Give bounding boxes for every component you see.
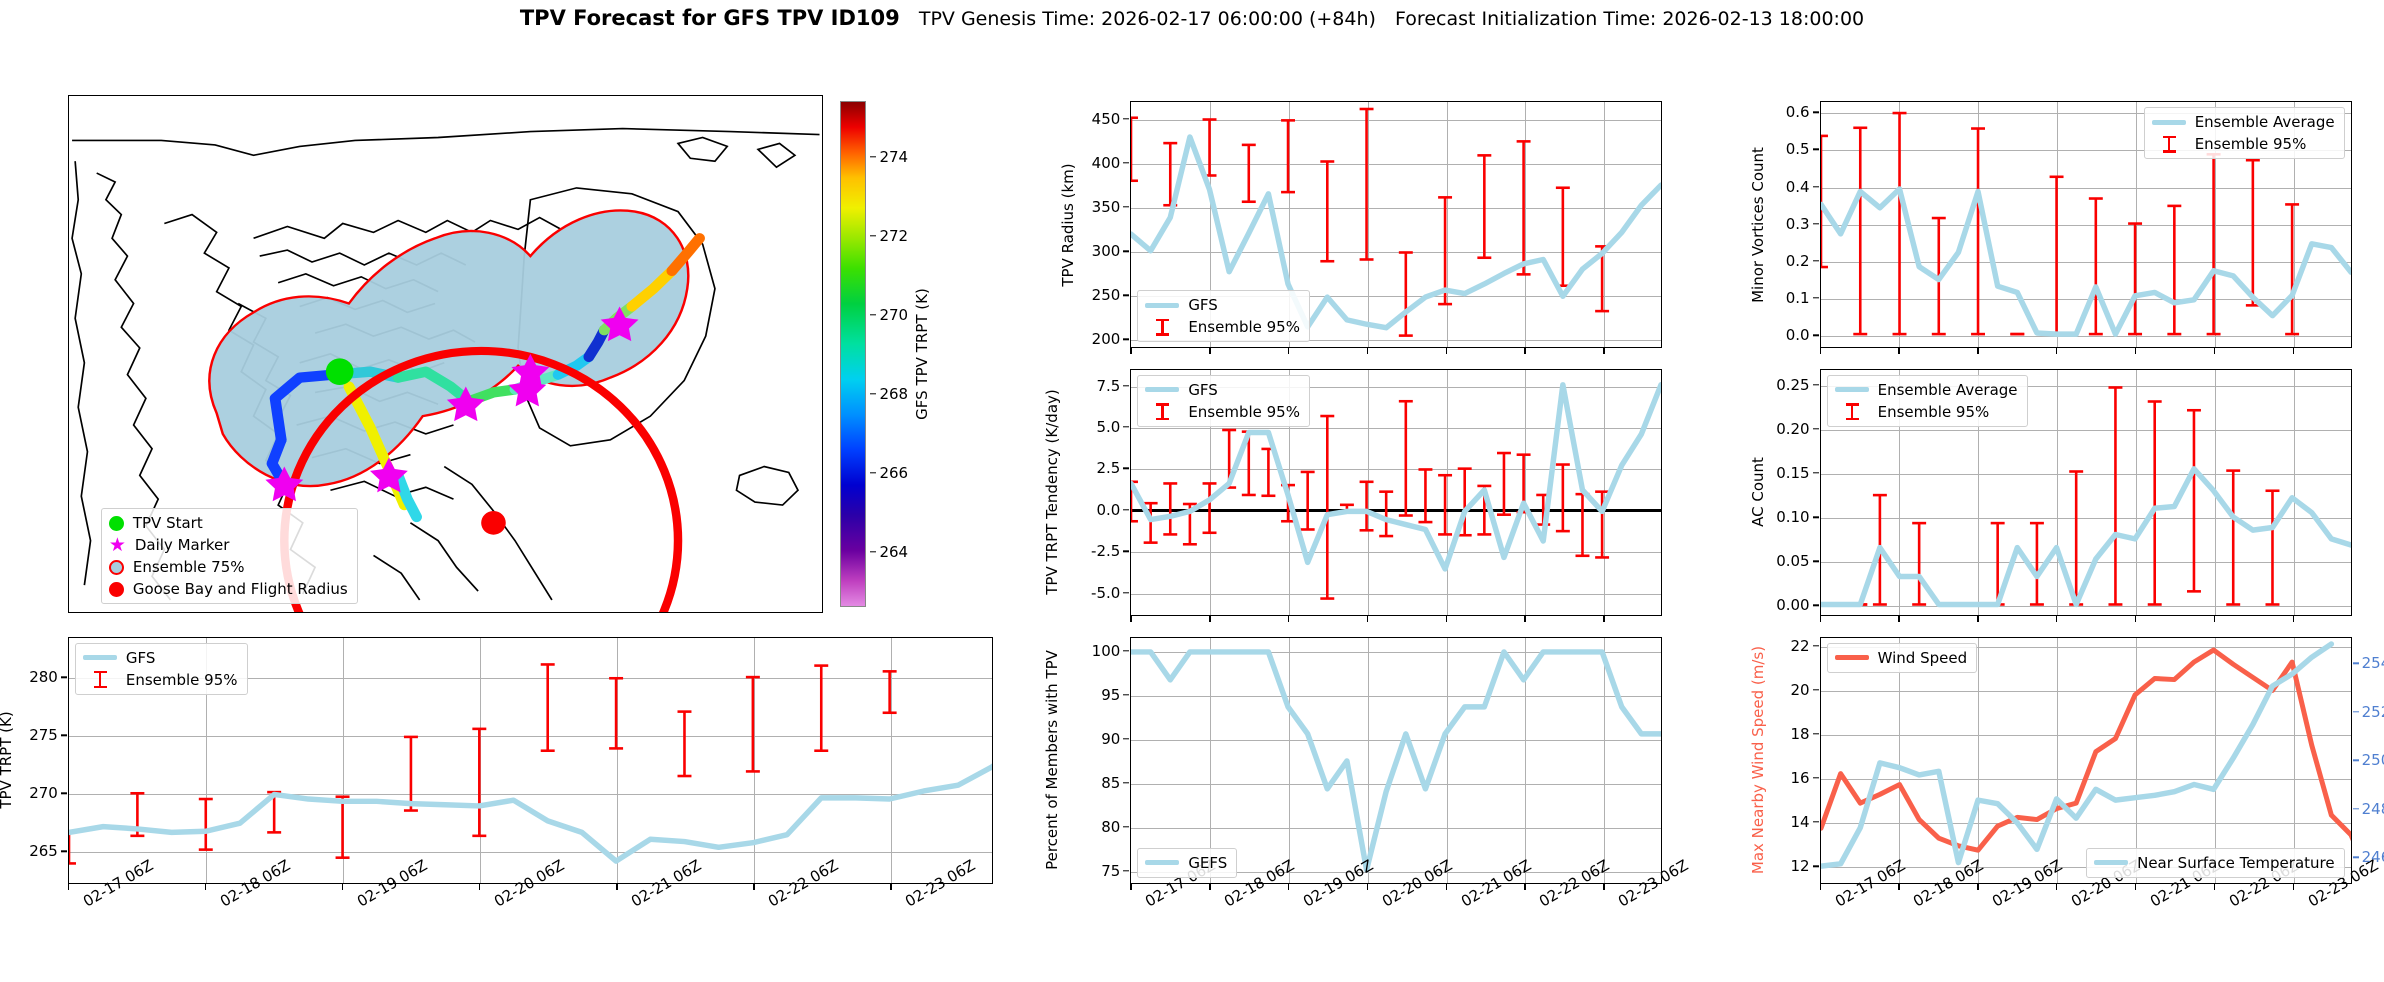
x-tick-label: 02-20 06Z: [1379, 895, 1388, 911]
legend-label: Ensemble 95%: [1188, 403, 1300, 421]
x-tick-label: 02-20 06Z: [2068, 895, 2077, 911]
y-tick-mark: [1813, 384, 1819, 385]
y-axis-label: TPV TRPT Tendency (K/day): [1043, 390, 1061, 595]
x-tick-mark: [2135, 616, 2136, 622]
legend-row: GEFS: [1145, 854, 1227, 872]
y-tick-mark: [61, 851, 67, 852]
legend-label: Ensemble 75%: [133, 558, 245, 576]
y-tick-mark: [1123, 782, 1129, 783]
legend-row-tpv-start: TPV Start: [109, 514, 348, 532]
x-tick-label: 02-19 06Z: [1300, 895, 1309, 911]
x-tick-mark: [1898, 348, 1899, 354]
legend-label: Daily Marker: [135, 536, 230, 554]
x-tick-mark: [2135, 348, 2136, 354]
x-tick-mark: [1820, 616, 1821, 622]
legend-label: Ensemble Average: [2195, 113, 2335, 131]
x-tick-mark: [1977, 884, 1978, 890]
y-tick-mark: [1123, 385, 1129, 386]
x-tick-mark: [342, 884, 343, 890]
x-tick-mark: [1209, 348, 1210, 354]
y-tick-mark: [1123, 162, 1129, 163]
x-tick-mark: [2135, 884, 2136, 890]
errorbar-swatch-icon: [1145, 319, 1179, 336]
colorbar-tick-label: 266: [879, 464, 908, 482]
y-axis-label: TPV TRPT (K): [0, 712, 15, 809]
y-tick-mark: [1813, 223, 1819, 224]
x-tick-mark: [205, 884, 206, 890]
y-tick-mark: [61, 677, 67, 678]
x-tick-mark: [2056, 348, 2057, 354]
y-tick-mark-right: [2353, 760, 2359, 761]
legend-row-ensemble-75: Ensemble 75%: [109, 558, 348, 576]
x-tick-mark: [1130, 616, 1131, 622]
colorbar-tick-label: 268: [879, 385, 908, 403]
y-tick-mark: [1813, 260, 1819, 261]
x-tick-label: 02-17 06Z: [1142, 895, 1151, 911]
x-tick-mark: [1524, 348, 1525, 354]
x-tick-label: 02-19 06Z: [354, 895, 363, 911]
y-tick-mark: [1813, 186, 1819, 187]
legend-row: GFS: [1145, 296, 1300, 314]
x-tick-label: 02-21 06Z: [1458, 895, 1467, 911]
y-tick-label: 0.6: [1740, 103, 1810, 121]
y-tick-label-right: 248: [2362, 800, 2384, 818]
legend-row: Ensemble 95%: [83, 671, 238, 689]
x-tick-mark: [2214, 348, 2215, 354]
x-tick-mark: [1603, 616, 1604, 622]
x-tick-mark: [1288, 616, 1289, 622]
y-tick-label: 0.0: [1740, 326, 1810, 344]
colorbar-gradient: [840, 101, 866, 607]
y-tick-label: 0.25: [1740, 376, 1810, 394]
series-line-gefs: [1131, 652, 1661, 870]
x-tick-mark: [1820, 884, 1821, 890]
y-tick-label-right: 246: [2362, 848, 2384, 866]
legend-label: Ensemble 95%: [126, 671, 238, 689]
tpv-radius-legend: GFSEnsemble 95%: [1137, 290, 1310, 342]
colorbar-tick-mark: [870, 156, 876, 157]
y-tick-mark: [61, 735, 67, 736]
y-tick-label: 450: [1050, 110, 1120, 128]
ensemble-95-errorbars: [1130, 401, 1609, 598]
x-tick-mark: [1446, 884, 1447, 890]
errorbar-swatch-icon: [2152, 136, 2186, 153]
y-tick-mark: [1813, 334, 1819, 335]
legend-label: GFS: [1188, 381, 1218, 399]
y-tick-mark: [1123, 295, 1129, 296]
ensemble-75-icon: [109, 560, 124, 575]
y-tick-mark: [1123, 551, 1129, 552]
tpv-radius-panel[interactable]: GFSEnsemble 95%200250300350400450TPV Rad…: [1130, 101, 1662, 348]
wind-speed-and-temperature-series-layer: [1821, 638, 2351, 883]
x-tick-label: 02-23 06Z: [902, 895, 911, 911]
y-tick-mark: [1813, 865, 1819, 866]
y-tick-mark: [61, 793, 67, 794]
wind-speed-and-temperature-legend: Near Surface Temperature: [2086, 848, 2345, 878]
y-tick-mark: [1123, 250, 1129, 251]
x-tick-mark: [1446, 348, 1447, 354]
tpv-trpt-tendency-legend: GFSEnsemble 95%: [1137, 375, 1310, 427]
y-tick-mark: [1813, 561, 1819, 562]
y-tick-mark-right: [2353, 711, 2359, 712]
x-tick-mark: [2056, 884, 2057, 890]
tpv-track-map-panel[interactable]: TPV Start ★ Daily Marker Ensemble 75% Go…: [68, 95, 824, 613]
legend-label: GFS: [1188, 296, 1218, 314]
x-tick-mark: [479, 884, 480, 890]
legend-label: GFS: [126, 649, 156, 667]
x-tick-label: 02-17 06Z: [1832, 895, 1841, 911]
y-tick-mark: [1123, 650, 1129, 651]
x-tick-mark: [2214, 616, 2215, 622]
y-tick-mark: [1813, 777, 1819, 778]
x-tick-mark: [1130, 884, 1131, 890]
minor-vortices-count-plot-area[interactable]: Ensemble AverageEnsemble 95%: [1820, 101, 2352, 348]
colorbar-tick-mark: [870, 393, 876, 394]
x-tick-mark: [1603, 884, 1604, 890]
x-tick-mark: [1820, 348, 1821, 354]
y-axis-label: AC Count: [1749, 458, 1767, 528]
errorbar-swatch-icon: [1145, 403, 1179, 420]
y-axis-label: Minor Vortices Count: [1749, 147, 1767, 303]
y-axis-label: Percent of Members with TPV: [1043, 650, 1061, 870]
x-tick-mark: [890, 884, 891, 890]
errorbar-swatch-icon: [1835, 403, 1869, 420]
line-swatch-icon: [1145, 860, 1179, 865]
y-tick-mark: [1813, 112, 1819, 113]
legend-label: Near Surface Temperature: [2137, 854, 2335, 872]
x-tick-mark: [1524, 616, 1525, 622]
y-tick-label: 0.05: [1740, 552, 1810, 570]
y-tick-label: 0.20: [1740, 420, 1810, 438]
y-tick-label: 280: [0, 668, 58, 686]
legend-label: Ensemble 95%: [1878, 403, 1990, 421]
ac-count-plot-area[interactable]: Ensemble AverageEnsemble 95%: [1820, 369, 2352, 616]
x-tick-mark: [753, 884, 754, 890]
x-tick-label: 02-21 06Z: [2147, 895, 2156, 911]
wind-speed-and-temperature-panel[interactable]: Wind SpeedNear Surface Temperature121416…: [1820, 637, 2352, 884]
legend-row: Ensemble 95%: [1835, 403, 2018, 421]
y-axis-label: TPV Radius (km): [1059, 163, 1077, 286]
legend-label: Ensemble Average: [1878, 381, 2018, 399]
x-tick-label: 02-22 06Z: [765, 895, 774, 911]
tpv-trpt-tendency-panel[interactable]: GFSEnsemble 95%-5.0-2.50.02.55.07.5TPV T…: [1130, 369, 1662, 616]
y-tick-mark: [1123, 339, 1129, 340]
percent-members-with-tpv-plot-area[interactable]: GEFS: [1130, 637, 1662, 884]
colorbar-tick-label: 274: [879, 148, 908, 166]
x-tick-mark: [1209, 616, 1210, 622]
legend-row: Ensemble 95%: [2152, 135, 2335, 153]
tpv-radius-plot-area[interactable]: GFSEnsemble 95%: [1130, 101, 1662, 348]
legend-row: GFS: [83, 649, 238, 667]
legend-row: Wind Speed: [1835, 649, 1968, 667]
y-tick-mark-right: [2353, 856, 2359, 857]
x-tick-label: 02-22 06Z: [1536, 895, 1545, 911]
legend-row: Ensemble Average: [1835, 381, 2018, 399]
y-tick-mark: [1123, 118, 1129, 119]
minor-vortices-count-panel[interactable]: Ensemble AverageEnsemble 95%0.00.10.20.3…: [1820, 101, 2352, 348]
y-tick-label-right: 254: [2362, 654, 2384, 672]
x-tick-mark: [1130, 348, 1131, 354]
y-tick-mark: [1813, 297, 1819, 298]
y-tick-mark: [1123, 738, 1129, 739]
x-tick-mark: [1367, 884, 1368, 890]
x-tick-mark: [1603, 348, 1604, 354]
x-tick-label: 02-20 06Z: [491, 895, 500, 911]
x-tick-mark: [2214, 884, 2215, 890]
x-tick-mark: [2056, 616, 2057, 622]
x-tick-mark: [1446, 616, 1447, 622]
y-tick-label: 265: [0, 842, 58, 860]
y-tick-mark: [1123, 592, 1129, 593]
colorbar-tick-mark: [870, 551, 876, 552]
legend-label: GEFS: [1188, 854, 1227, 872]
x-tick-mark: [1977, 616, 1978, 622]
legend-row: Near Surface Temperature: [2094, 854, 2335, 872]
x-tick-mark: [1898, 616, 1899, 622]
x-tick-mark: [2293, 884, 2294, 890]
y-tick-mark: [1123, 870, 1129, 871]
line-swatch-icon: [1145, 303, 1179, 308]
x-tick-mark: [1367, 616, 1368, 622]
y-tick-mark: [1123, 206, 1129, 207]
ac-count-panel[interactable]: Ensemble AverageEnsemble 95%0.000.050.10…: [1820, 369, 2352, 616]
title-genesis-time: TPV Genesis Time: 2026-02-17 06:00:00 (+…: [919, 8, 1376, 30]
legend-row: GFS: [1145, 381, 1300, 399]
star-icon: ★: [109, 538, 126, 553]
x-tick-mark: [1367, 348, 1368, 354]
colorbar-tick-mark: [870, 472, 876, 473]
y-tick-mark-right: [2353, 663, 2359, 664]
x-tick-mark: [1288, 884, 1289, 890]
errorbar-swatch-icon: [83, 671, 117, 688]
legend-label: Wind Speed: [1878, 649, 1968, 667]
y-tick-label-right: 250: [2362, 751, 2384, 769]
x-tick-label: 02-23 06Z: [2305, 895, 2314, 911]
x-tick-label: 02-18 06Z: [1910, 895, 1919, 911]
ac-count-legend: Ensemble AverageEnsemble 95%: [1827, 375, 2028, 427]
title-main: TPV Forecast for GFS TPV ID109: [520, 6, 900, 30]
percent-members-with-tpv-panel[interactable]: GEFS758085909510002-17 06Z02-18 06Z02-19…: [1130, 637, 1662, 884]
legend-row: Ensemble 95%: [1145, 318, 1300, 336]
wind-speed-and-temperature-plot-area[interactable]: Wind SpeedNear Surface Temperature: [1820, 637, 2352, 884]
y-tick-mark: [1123, 509, 1129, 510]
colorbar-tick-mark: [870, 314, 876, 315]
trpt-colorbar: 264266268270272274 GFS TPV TRPT (K): [840, 101, 870, 607]
wind-speed-and-temperature-legend: Wind Speed: [1827, 643, 1978, 673]
x-tick-label: 02-21 06Z: [628, 895, 637, 911]
page-title: TPV Forecast for GFS TPV ID109 TPV Genes…: [0, 6, 2384, 30]
y-tick-mark: [1813, 733, 1819, 734]
x-tick-mark: [2293, 348, 2294, 354]
minor-vortices-count-legend: Ensemble AverageEnsemble 95%: [2144, 107, 2345, 159]
x-tick-mark: [2293, 616, 2294, 622]
y-tick-mark: [1123, 826, 1129, 827]
x-tick-mark: [1209, 884, 1210, 890]
tpv-start-icon: [109, 516, 124, 531]
y-tick-mark-right: [2353, 808, 2359, 809]
tpv-trpt-tendency-plot-area[interactable]: GFSEnsemble 95%: [1130, 369, 1662, 616]
x-tick-mark: [1898, 884, 1899, 890]
map-frame[interactable]: TPV Start ★ Daily Marker Ensemble 75% Go…: [68, 95, 824, 613]
legend-label: Ensemble 95%: [2195, 135, 2307, 153]
colorbar-tick-label: 270: [879, 306, 908, 324]
tpv-trpt-plot-area[interactable]: GFSEnsemble 95%: [68, 637, 993, 884]
x-tick-label: 02-18 06Z: [1221, 895, 1230, 911]
legend-label: TPV Start: [133, 514, 203, 532]
line-swatch-icon: [1835, 387, 1869, 392]
y-tick-mark: [1123, 426, 1129, 427]
goose-bay-marker: [481, 511, 506, 535]
colorbar-tick-mark: [870, 235, 876, 236]
y-tick-mark: [1813, 645, 1819, 646]
goose-bay-icon: [109, 582, 124, 597]
line-swatch-icon: [1835, 655, 1869, 660]
y-tick-mark: [1813, 516, 1819, 517]
legend-row: Ensemble 95%: [1145, 403, 1300, 421]
x-tick-label: 02-17 06Z: [80, 895, 89, 911]
line-swatch-icon: [2152, 120, 2186, 125]
y-tick-mark: [1813, 428, 1819, 429]
x-tick-label: 02-22 06Z: [2226, 895, 2235, 911]
y-tick-mark: [1813, 472, 1819, 473]
y-tick-label: 200: [1050, 330, 1120, 348]
legend-row-daily-marker: ★ Daily Marker: [109, 536, 348, 554]
line-swatch-icon: [2094, 860, 2128, 865]
legend-label: Goose Bay and Flight Radius: [133, 580, 348, 598]
tpv-trpt-panel[interactable]: GFSEnsemble 95%26527027528002-17 06Z02-1…: [68, 637, 993, 884]
line-swatch-icon: [83, 655, 117, 660]
y-tick-mark: [1813, 149, 1819, 150]
map-legend: TPV Start ★ Daily Marker Ensemble 75% Go…: [101, 508, 358, 604]
percent-members-with-tpv-series-layer: [1131, 638, 1661, 883]
y-tick-label-right: 252: [2362, 703, 2384, 721]
title-init-time: Forecast Initialization Time: 2026-02-13…: [1395, 8, 1864, 30]
y-tick-mark: [1813, 821, 1819, 822]
x-tick-mark: [1288, 348, 1289, 354]
colorbar-tick-label: 272: [879, 227, 908, 245]
colorbar-tick-label: 264: [879, 543, 908, 561]
x-tick-label: 02-23 06Z: [1615, 895, 1624, 911]
y-tick-label: 0.00: [1740, 596, 1810, 614]
y-tick-label: 250: [1050, 286, 1120, 304]
x-tick-mark: [68, 884, 69, 890]
legend-row: Ensemble Average: [2152, 113, 2335, 131]
tpv-trpt-legend: GFSEnsemble 95%: [75, 643, 248, 695]
colorbar-label: GFS TPV TRPT (K): [913, 288, 931, 420]
y-tick-mark: [1123, 468, 1129, 469]
percent-members-with-tpv-legend: GEFS: [1137, 848, 1237, 878]
line-swatch-icon: [1145, 387, 1179, 392]
x-tick-mark: [616, 884, 617, 890]
x-tick-mark: [1524, 884, 1525, 890]
y-tick-mark: [1123, 694, 1129, 695]
y-axis-label: Max Nearby Wind Speed (m/s): [1749, 646, 1767, 874]
x-tick-label: 02-18 06Z: [217, 895, 226, 911]
x-tick-label: 02-19 06Z: [1989, 895, 1998, 911]
tpv-start-marker: [326, 359, 354, 386]
legend-row-goose-bay: Goose Bay and Flight Radius: [109, 580, 348, 598]
x-tick-mark: [1977, 348, 1978, 354]
legend-label: Ensemble 95%: [1188, 318, 1300, 336]
y-tick-mark: [1813, 605, 1819, 606]
y-tick-mark: [1813, 689, 1819, 690]
